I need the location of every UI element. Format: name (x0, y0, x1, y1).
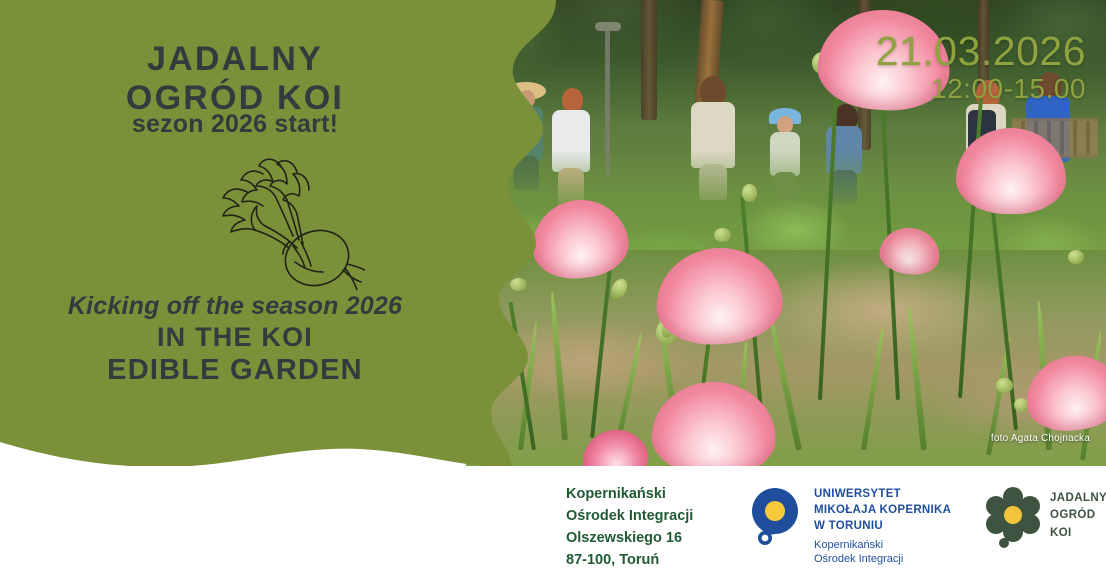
date-time-overlay: 21.03.2026 12:00-15.00 (876, 30, 1086, 105)
ncu-sub-1: Kopernikański (814, 538, 951, 552)
event-date: 21.03.2026 (876, 30, 1086, 73)
ncu-sub-2: Ośrodek Integracji (814, 552, 951, 566)
koi-flower-logo-icon (982, 486, 1044, 548)
poppy-bud (1068, 250, 1084, 264)
ncu-line-3: W TORUNIU (814, 519, 951, 535)
title-line-1: JADALNY (0, 40, 470, 79)
tree-trunk (641, 0, 657, 120)
ncu-logo: UNIWERSYTET MIKOŁAJA KOPERNIKA W TORUNIU… (748, 484, 958, 556)
person-head (562, 88, 583, 112)
koi-logo: JADALNY OGRÓD KOI (982, 484, 1102, 556)
english-italic-line: Kicking off the season 2026 (0, 292, 470, 321)
english-line-1: IN THE KOI (0, 322, 470, 353)
poster-canvas: foto Agata Chojnacka 21.03.2026 12:00-15… (0, 0, 1106, 581)
event-time: 12:00-15.00 (876, 73, 1086, 105)
ncu-line-1: UNIWERSYTET (814, 487, 951, 503)
poppy-bud (510, 278, 527, 291)
poppy-bud (742, 184, 757, 202)
photo-credit: foto Agata Chojnacka (991, 433, 1090, 444)
ncu-line-2: MIKOŁAJA KOPERNIKA (814, 503, 951, 519)
poster-title: JADALNY OGRÓD KOI (0, 40, 470, 118)
poppy-bud (996, 378, 1013, 393)
beet-illustration-icon (205, 150, 365, 290)
koi-logo-text: JADALNY OGRÓD KOI (1050, 490, 1106, 542)
english-line-2: EDIBLE GARDEN (0, 354, 470, 387)
left-text-panel: JADALNY OGRÓD KOI sezon 2026 start! (0, 0, 470, 470)
poster-footer: Kopernikański Ośrodek Integracji Olszews… (0, 466, 1106, 581)
venue-address: Kopernikański Ośrodek Integracji Olszews… (566, 483, 693, 571)
poster-subtitle: sezon 2026 start! (0, 110, 470, 139)
ncu-logo-text: UNIWERSYTET MIKOŁAJA KOPERNIKA W TORUNIU… (814, 487, 951, 566)
poppy-bud (714, 228, 731, 242)
ncu-circle-logo-icon (748, 486, 804, 548)
